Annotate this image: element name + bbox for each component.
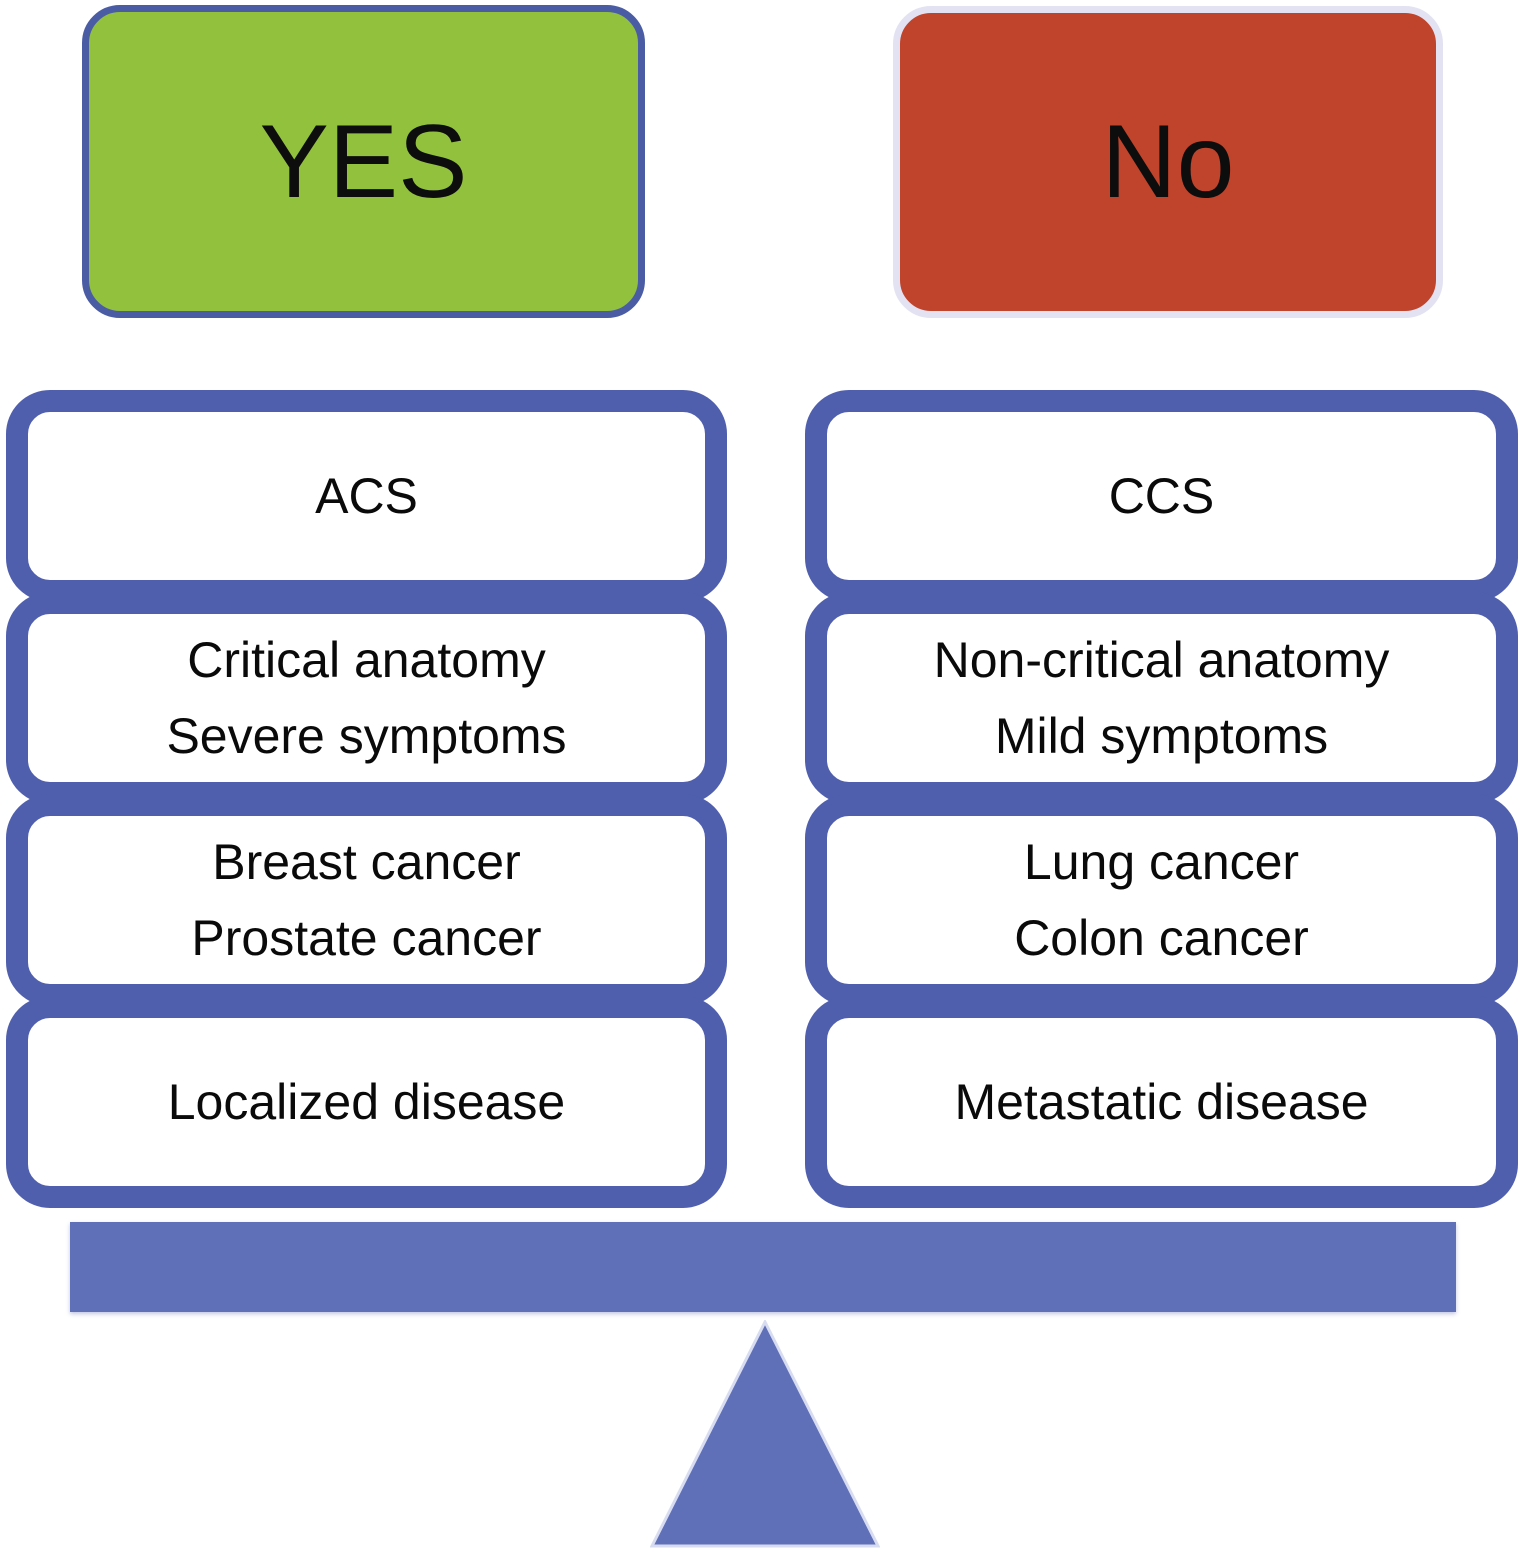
pan-left-cell-2[interactable]: Breast cancer Prostate cancer: [6, 794, 727, 1006]
balance-beam: [70, 1222, 1456, 1312]
scale-pan-right: CCS Non-critical anatomy Mild symptoms L…: [805, 390, 1518, 1218]
pan-left-cell-1-line-0: Critical anatomy: [187, 622, 545, 698]
fulcrum-triangle-icon: [650, 1320, 880, 1548]
pan-right-cell-2-line-1: Colon cancer: [1014, 900, 1309, 976]
pan-right-cell-2-line-0: Lung cancer: [1024, 824, 1299, 900]
pan-right-cell-1-line-0: Non-critical anatomy: [934, 622, 1390, 698]
diagram-canvas: YES No ACS Critical anatomy Severe sympt…: [0, 0, 1530, 1553]
pan-left-cell-3-line-0: Localized disease: [168, 1077, 566, 1127]
pan-left-cell-1[interactable]: Critical anatomy Severe symptoms: [6, 592, 727, 804]
decision-box-no-label: No: [1102, 110, 1235, 214]
pan-left-cell-1-line-1: Severe symptoms: [166, 698, 566, 774]
pan-left-cell-2-line-0: Breast cancer: [212, 824, 520, 900]
pan-right-cell-2[interactable]: Lung cancer Colon cancer: [805, 794, 1518, 1006]
decision-box-no[interactable]: No: [893, 6, 1443, 318]
pan-left-cell-0-line-0: ACS: [315, 471, 418, 521]
pan-right-cell-3-line-0: Metastatic disease: [954, 1077, 1368, 1127]
pan-left-cell-3[interactable]: Localized disease: [6, 996, 727, 1208]
scale-pan-left: ACS Critical anatomy Severe symptoms Bre…: [6, 390, 727, 1218]
decision-box-yes-label: YES: [259, 110, 467, 214]
pan-right-cell-1[interactable]: Non-critical anatomy Mild symptoms: [805, 592, 1518, 804]
pan-left-cell-2-line-1: Prostate cancer: [191, 900, 541, 976]
pan-right-cell-0-line-0: CCS: [1109, 471, 1215, 521]
pan-left-cell-0[interactable]: ACS: [6, 390, 727, 602]
pan-right-cell-3[interactable]: Metastatic disease: [805, 996, 1518, 1208]
decision-box-yes[interactable]: YES: [82, 5, 645, 318]
pan-right-cell-0[interactable]: CCS: [805, 390, 1518, 602]
pan-right-cell-1-line-1: Mild symptoms: [995, 698, 1328, 774]
